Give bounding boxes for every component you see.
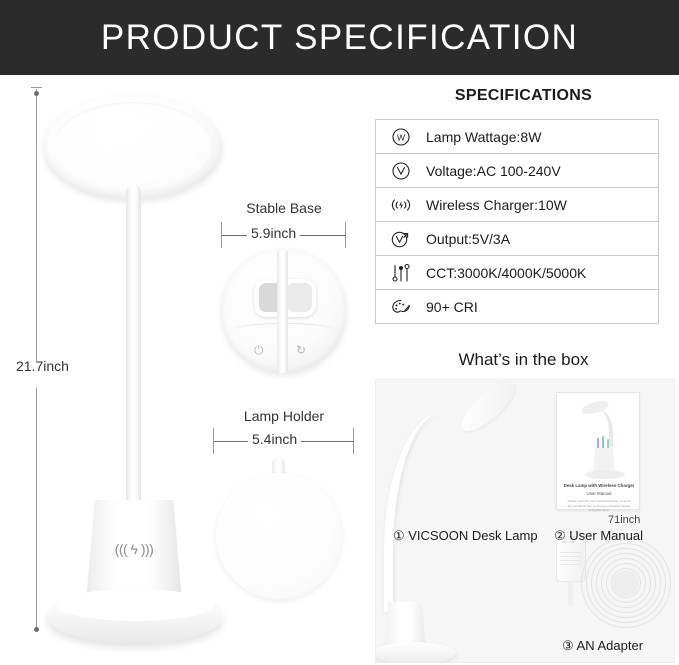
power-button-icon: ⏻ [254, 343, 264, 358]
manual-cover-lamp-base [585, 470, 625, 479]
cable-connector [613, 570, 639, 596]
height-dimension-arrow-bottom [34, 627, 39, 632]
manual-cover-pen-cup [593, 448, 615, 472]
page-title: PRODUCT SPECIFICATION [101, 18, 578, 58]
spec-value: Voltage:AC 100-240V [426, 163, 561, 179]
lamp-holder-title: Lamp Holder [212, 408, 356, 424]
manual-cover-lamp-neck [587, 409, 613, 447]
svg-text:W: W [397, 132, 405, 142]
spec-value: Output:5V/3A [426, 231, 510, 247]
height-dimension-line-upper [36, 89, 37, 361]
table-row: W Lamp Wattage:8W [376, 120, 658, 154]
user-manual-thumbnail: Desk Lamp with Wireless Charger User Man… [556, 392, 640, 510]
cct-sliders-icon [376, 262, 426, 284]
whats-in-the-box-heading: What’s in the box [368, 350, 679, 370]
lamp-holder-dimension-value: 5.4inch [248, 431, 301, 447]
product-specification-page: PRODUCT SPECIFICATION 21.7inch ((( ϟ )))… [0, 0, 679, 665]
table-row: CCT:3000K/4000K/5000K [376, 256, 658, 290]
table-row: 90+ CRI [376, 290, 658, 324]
specifications-heading: SPECIFICATIONS [368, 87, 679, 105]
box-lamp-head [454, 379, 521, 439]
table-row: Voltage:AC 100-240V [376, 154, 658, 188]
manual-cover-subtitle: User Manual [557, 491, 641, 496]
manual-cover-pen [602, 436, 604, 449]
adapter-cord [568, 580, 573, 606]
base-neck-post [277, 251, 288, 373]
page-header: PRODUCT SPECIFICATION [0, 0, 679, 75]
lamp-height-label: 21.7inch [16, 358, 69, 374]
wireless-charger-icon [376, 195, 426, 215]
spec-value: 90+ CRI [426, 299, 478, 315]
manual-cover-note: Please read this user manual carefully, … [565, 499, 633, 513]
whats-in-the-box-panel: Desk Lamp with Wireless Charger User Man… [375, 379, 675, 663]
box-item-label-user-manual: ② User Manual [554, 528, 643, 544]
box-item-label-desk-lamp: ① VICSOON Desk Lamp [393, 528, 538, 544]
height-dimension-line-lower [36, 388, 37, 632]
product-diagram: 21.7inch ((( ϟ ))) Stable Base 5.9inch ·… [0, 75, 368, 665]
cri-palette-icon [376, 297, 426, 317]
base-pad-right [287, 283, 312, 312]
height-dimension-top-tick [31, 87, 42, 88]
lamp-base-top-surface [56, 589, 214, 621]
box-lamp-neck [384, 412, 468, 612]
spec-value: Lamp Wattage:8W [426, 129, 541, 145]
wattage-circle-w-icon: W [376, 127, 426, 147]
box-item-label-adapter: ③ AN Adapter [562, 638, 643, 654]
cable-length-label: 71inch [608, 514, 640, 526]
stable-base-title: Stable Base [219, 200, 349, 216]
specifications-table: W Lamp Wattage:8W Voltage:AC 100-240V Wi… [375, 119, 659, 324]
specifications-panel: SPECIFICATIONS W Lamp Wattage:8W Voltage… [368, 75, 679, 665]
color-mode-button-icon: ↻ [296, 343, 306, 357]
spec-value: CCT:3000K/4000K/5000K [426, 265, 586, 281]
box-lamp-base [375, 642, 456, 663]
table-row: Wireless Charger:10W [376, 188, 658, 222]
adapter-label-lines [560, 552, 582, 568]
table-row: Output:5V/3A [376, 222, 658, 256]
lamp-neck-illustration [126, 185, 141, 515]
voltage-circle-v-icon [376, 161, 426, 181]
lamp-head-diffuser [54, 102, 212, 190]
wireless-charging-icon: ((( ϟ ))) [108, 541, 160, 557]
stable-base-dimension-value: 5.9inch [247, 225, 300, 241]
manual-cover-title: Desk Lamp with Wireless Charger [557, 483, 641, 488]
lamp-holder-disc [216, 473, 342, 599]
height-dimension-arrow-top [34, 91, 39, 96]
spec-value: Wireless Charger:10W [426, 197, 567, 213]
output-circle-v-arrow-icon [376, 229, 426, 249]
